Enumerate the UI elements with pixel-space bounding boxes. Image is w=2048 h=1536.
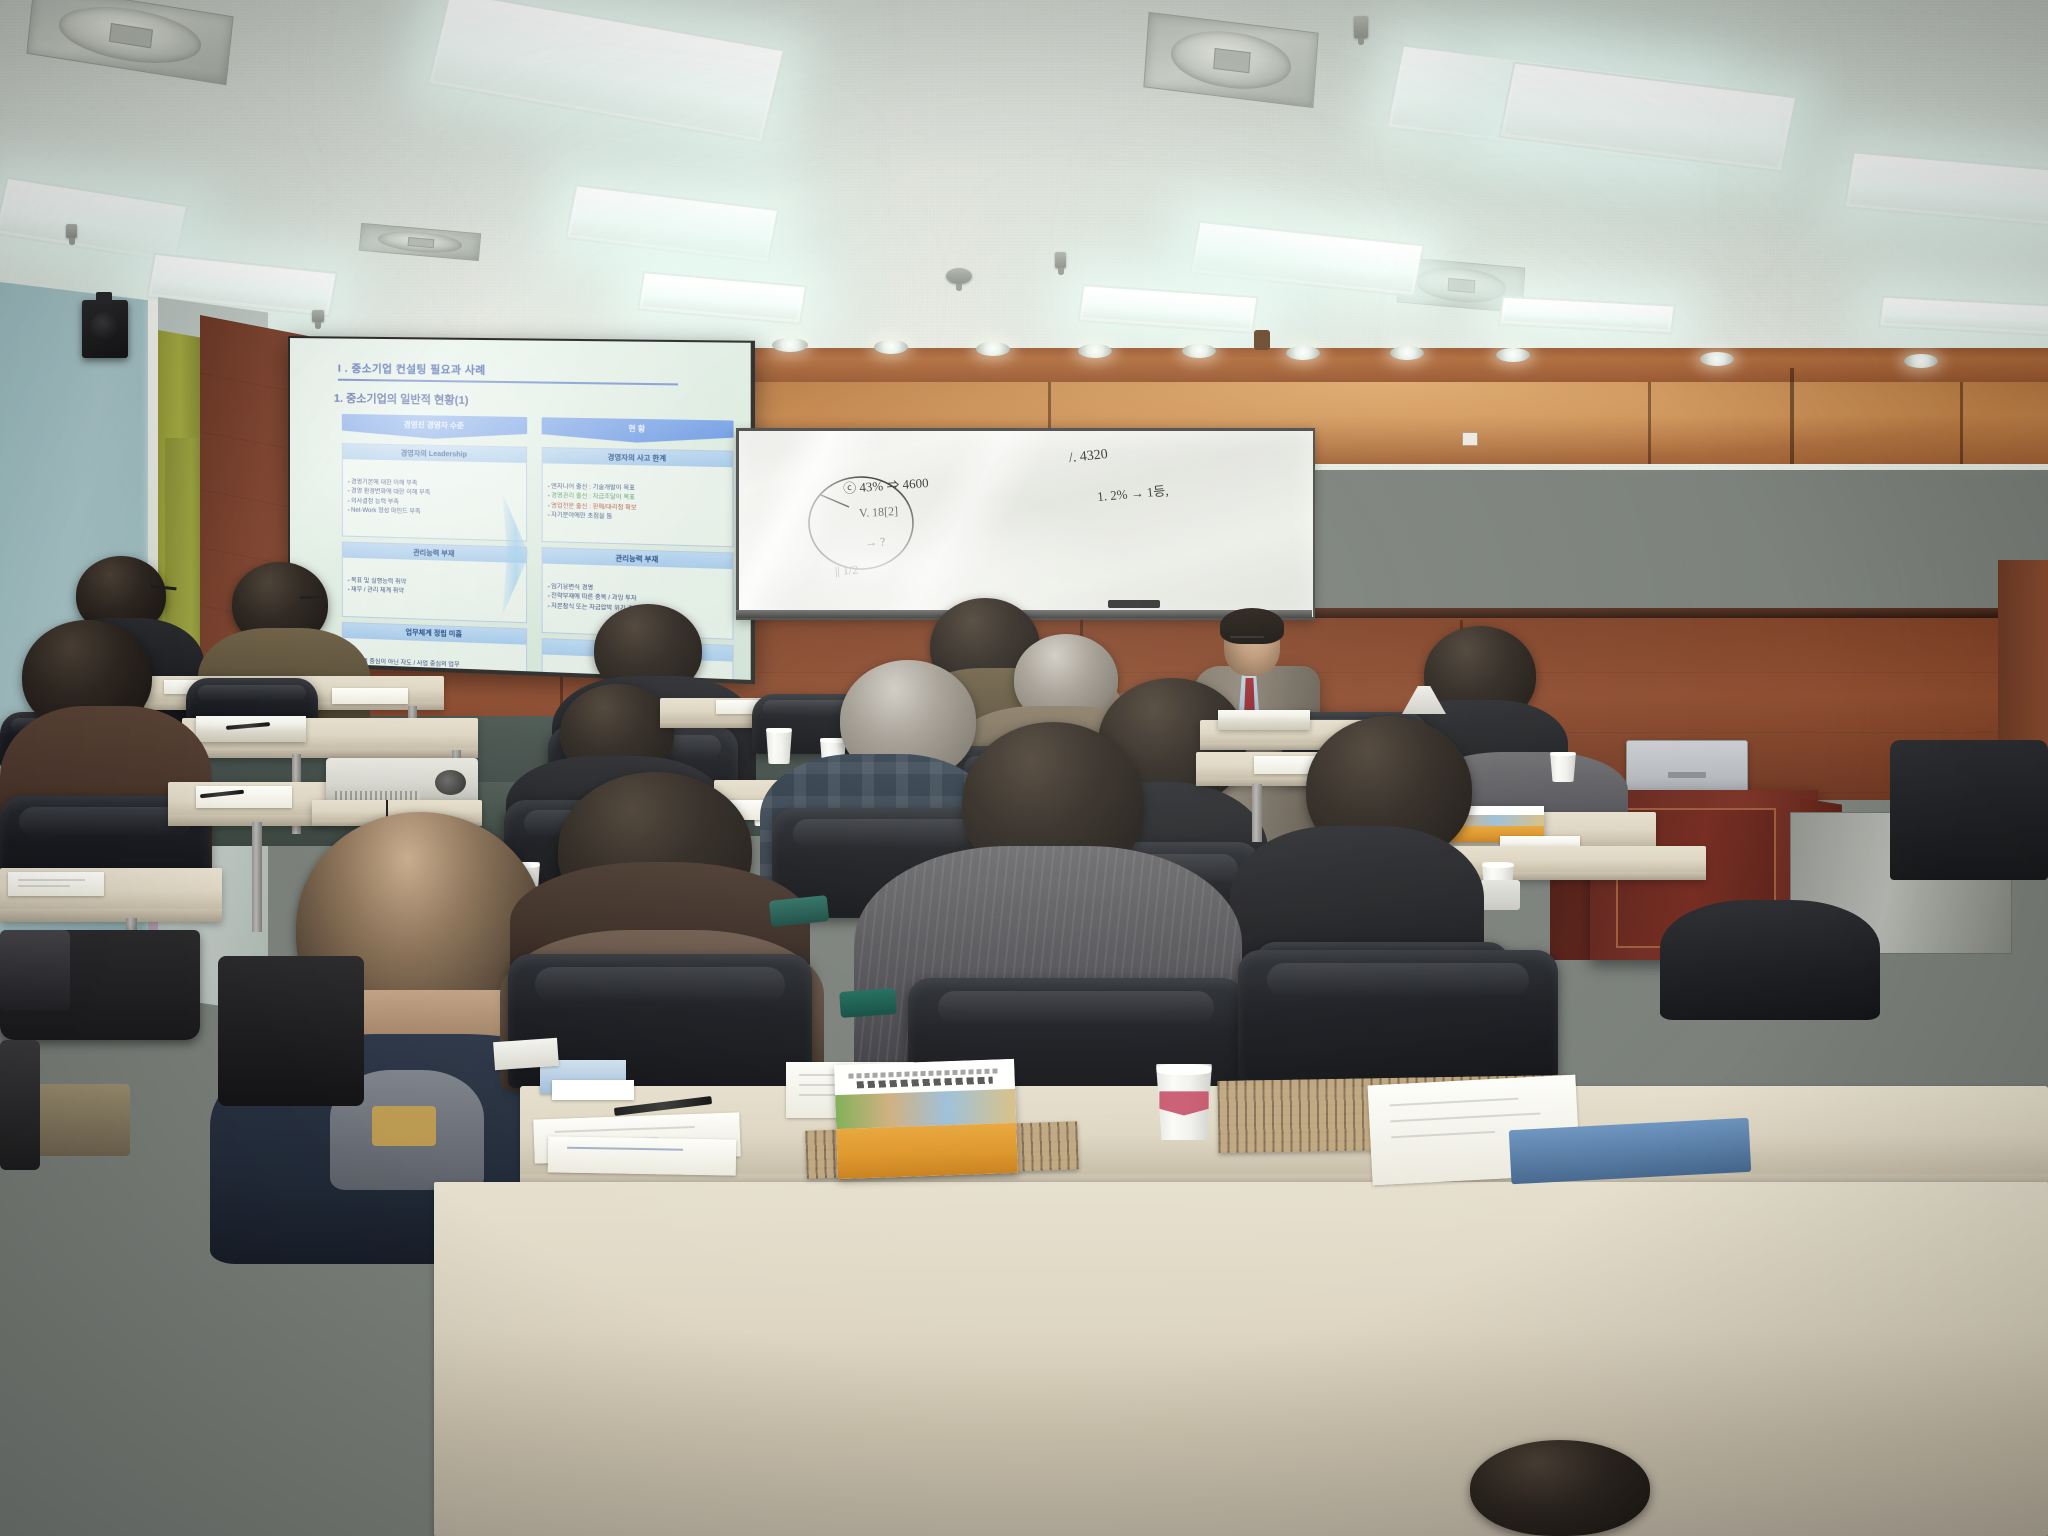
slide-title-rule [338,379,678,386]
paper-sheet [552,1080,634,1100]
recessed-downlight [1496,348,1530,362]
slide-card-header: 업무체계 정립 미흡 [343,623,526,645]
paper-cup [766,728,792,764]
slide-subtitle: 1. 중소기업의 일반적 현황(1) [334,390,736,413]
wall-sensor [1254,330,1270,350]
slide-card-header: 경영자의 Leadership [343,444,526,463]
paper-sheet [493,1038,559,1070]
sprinkler-head [66,224,77,238]
chair-back [0,930,70,1010]
backpack [218,956,364,1106]
laptop-badge [1668,772,1706,778]
table [434,1182,2048,1536]
slide-card: 경영자의 사고 한계 엔지니어 출신 : 기술개발이 목표 경영관리 출신 : … [542,447,734,548]
slide-card-header: 경영자의 사고 한계 [543,448,733,467]
smoke-detector [946,268,972,284]
whiteboard-marker [1108,600,1160,608]
recessed-downlight [1286,346,1320,360]
table-leg [252,822,262,932]
table-leg [1252,784,1262,842]
slide-card-bullets: 엔지니어 출신 : 기술개발이 목표 경영관리 출신 : 자금조달이 목표 영업… [543,480,733,530]
paper-cup [1156,1064,1212,1140]
wood-seam [1790,368,1794,464]
paper-sheet [548,1136,737,1175]
slide-card: 경영자의 Leadership 경영기본에 대한 이해 부족 경영 환경변화에 … [342,443,527,542]
cabinet-latch [1462,432,1478,446]
slide-card-bullets: 목표 및 실행능력 취약 재무 / 관리 체계 취약 [343,574,526,606]
recessed-downlight [1182,344,1216,358]
glasses-case [769,895,829,927]
projector-lens [435,770,465,795]
paper-cup [1550,752,1576,782]
brochure [834,1059,1018,1179]
recessed-downlight [1078,344,1112,358]
glasses-case [839,988,897,1018]
slide-band: 경영진 경영자 수준 [342,414,527,441]
slide-card-header: 관리능력 부재 [343,543,526,563]
glasses-icon [149,585,176,600]
book-stack [1218,710,1310,730]
slide-card-header: 관리능력 부재 [543,548,733,569]
recessed-downlight [1700,352,1734,366]
audience-body [1890,740,2048,880]
slide-column-left: 경영진 경영자 수준 경영자의 Leadership 경영기본에 대한 이해 부… [342,414,527,680]
cabinet-seam [1648,382,1651,464]
recessed-downlight [1390,346,1424,360]
chair [1238,950,1558,1080]
recessed-downlight [772,338,808,352]
chair-back [0,1040,40,1170]
cabinet-seam [1960,382,1963,464]
slide-card: 관리능력 부재 목표 및 실행능력 취약 재무 / 관리 체계 취약 [342,542,527,623]
slide-card-bullets: 경영기본에 대한 이해 부족 경영 환경변화에 대한 이해 부족 의사결정 능력… [343,475,526,524]
recessed-downlight [1904,354,1938,368]
paper-cup [1480,880,1520,910]
paper-sheet [8,872,104,896]
paper-sheet [332,688,408,704]
glasses-icon [300,596,324,608]
audience-head [1470,1440,1650,1536]
book-stack [196,716,306,742]
wall-speaker [82,300,128,358]
sprinkler-head [312,310,324,322]
recessed-downlight [976,342,1010,356]
whiteboard-glare [739,431,1313,617]
glasses-icon [1230,636,1264,646]
garment-logo [372,1106,436,1146]
slide-band: 현 황 [542,417,734,444]
sprinkler-head [1055,252,1066,268]
speaker-bracket [96,292,112,304]
sprinkler-head [1354,16,1368,38]
recessed-downlight [874,340,908,354]
seminar-room-photo: I . 중소기업 컨설팅 필요과 사례 1. 중소기업의 일반적 현황(1) 경… [0,0,2048,1536]
slide-title: I . 중소기업 컨설팅 필요과 사례 [338,361,736,381]
audience-body [1660,900,1880,1020]
whiteboard: ⓒ 43% ⇒ 4600 /. 4320 1. 2% → 1등, V. 18[2… [736,428,1315,620]
